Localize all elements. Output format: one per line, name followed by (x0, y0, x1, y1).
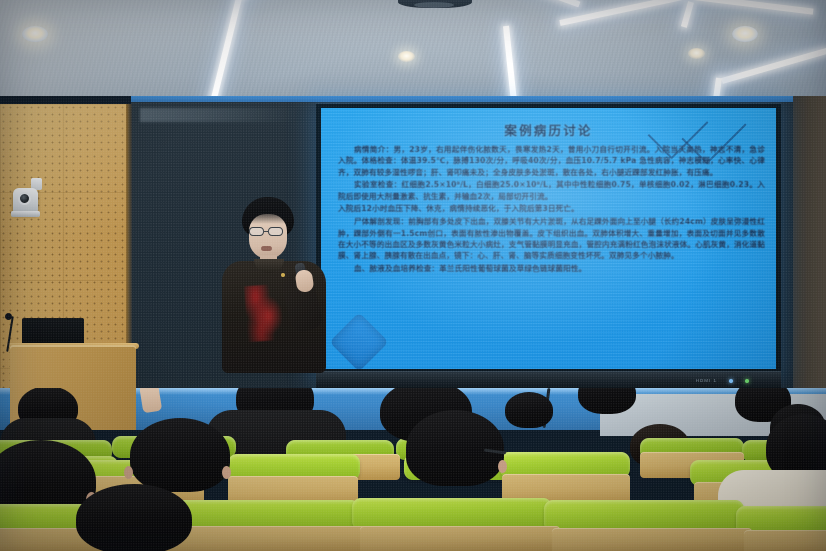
eyeglasses-icon (268, 227, 283, 236)
camera-lens-icon (18, 192, 31, 205)
presenter-mouth (261, 246, 272, 251)
hoodie-graphic (244, 284, 284, 342)
slide-paragraph: 血、脓液及血培养检查：革兰氏阳性葡萄球菌及草绿色链球菌阳性。 (338, 263, 765, 274)
recessed-downlight-icon (732, 26, 758, 42)
wall-trim-right (793, 96, 826, 404)
audience-head (505, 392, 553, 428)
signal-indicator-icon (729, 379, 733, 383)
presenter-fringe (244, 209, 292, 224)
audience-seating (0, 388, 826, 551)
ceiling-light-falloff-left (0, 0, 300, 104)
raised-hand (139, 388, 162, 413)
audience-head (76, 484, 192, 551)
presentation-screen[interactable]: 案例病历讨论 病情简介：男，23岁，右用起伴伤化脓数天，畏寒发热2天，曾用小刀自… (316, 104, 781, 379)
recessed-downlight-icon (688, 48, 705, 59)
display-control-bar[interactable]: HDMI 1 (316, 371, 781, 388)
audience-ear (498, 460, 507, 473)
presenter (208, 197, 340, 373)
slide-paragraph: 入院后12小时血压下降、休克，病情持续恶化，于入院后第3日死亡。 (338, 203, 765, 214)
audience-head (578, 388, 636, 414)
slide-paragraph: 尸体解剖发现：前胸部有多处皮下出血，双膝关节有大片淤斑，从右足踝外面向上至小腿（… (338, 216, 765, 261)
slide-paragraph: 病情简介：男，23岁，右用起伴伤化脓数天，畏寒发热2天，曾用小刀自行切开引流。入… (338, 144, 765, 178)
eyeglasses-icon (249, 227, 264, 236)
board-highlight (140, 108, 340, 122)
audience-head (406, 410, 504, 486)
slide-paragraph: 实验室检查：红细胞2.5×10⁹/L，白细胞25.0×10⁹/L，其中中性粒细胞… (338, 179, 765, 202)
slide-surface: 案例病历讨论 病情简介：男，23岁，右用起伴伤化脓数天，畏寒发热2天，曾用小刀自… (321, 108, 776, 369)
audience-head (130, 418, 230, 492)
presenter-badge (281, 273, 285, 277)
display-status-text: HDMI 1 (696, 378, 717, 383)
eyeglasses-bridge (264, 231, 269, 232)
seat-back (744, 530, 826, 551)
lectern-recess (22, 318, 84, 345)
recessed-downlight-icon (398, 51, 415, 62)
audience-ear (222, 466, 231, 479)
lecture-hall-photo: 案例病历讨论 病情简介：男，23岁，右用起伴伤化脓数天，畏寒发热2天，曾用小刀自… (0, 0, 826, 551)
recessed-downlight-icon (22, 26, 48, 42)
microphone-icon (5, 313, 12, 320)
ptz-camera-base (11, 211, 40, 217)
audience-ear (124, 466, 133, 479)
slide-title: 案例病历讨论 (321, 120, 776, 139)
seat-back (168, 526, 368, 551)
power-indicator-icon (745, 379, 749, 383)
slide-body: 病情简介：男，23岁，右用起伴伤化脓数天，畏寒发热2天，曾用小刀自行切开引流。入… (338, 144, 765, 276)
seat-back (360, 526, 560, 551)
seat-back (552, 528, 752, 551)
